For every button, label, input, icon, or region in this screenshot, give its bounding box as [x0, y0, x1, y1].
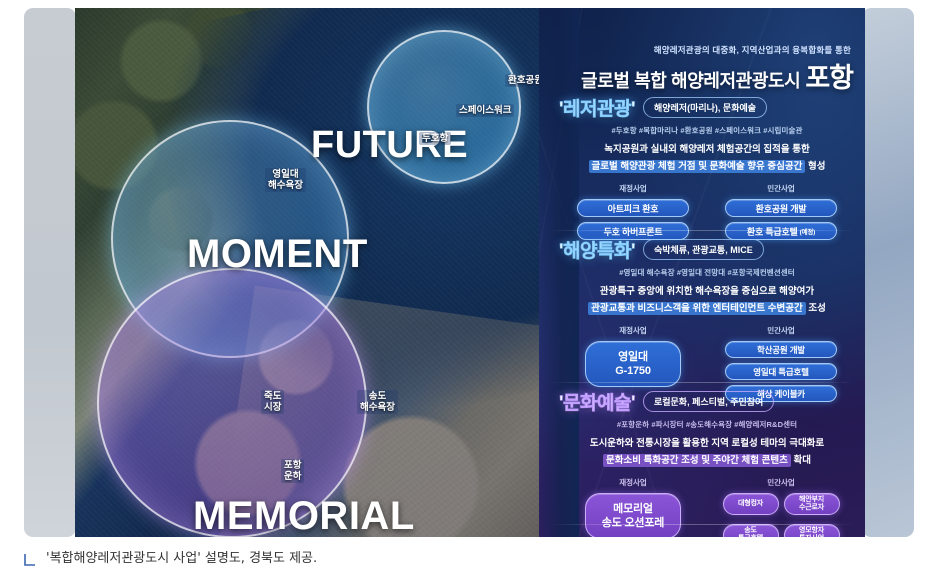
section-description: 녹지공원과 실내외 해양레저 체험공간의 집적을 통한 글로벌 해양관광 체험 … [559, 143, 855, 174]
headline-subtitle: 해양레저관광의 대중화, 지역산업과의 융복합화를 통한 [539, 44, 851, 56]
figure-caption-row: '복합해양레저관광도시 사업' 설명도, 경북도 제공. [24, 550, 317, 568]
project-columns: 재정사업 메모리얼 송도 오션포레 민간사업 대형컹자 해안부지 수근로자 송도… [559, 477, 855, 537]
project-column-public: 재정사업 메모리얼 송도 오션포레 [559, 477, 707, 537]
section-desc-highlight: 관광교통과 비즈니스객을 위한 엔터테인먼트 수변공간 [588, 302, 806, 315]
section-desc-line1: 도시운하와 전통시장을 활용한 지역 로컬성 테마의 극대화로 [559, 437, 855, 451]
project-button-label: 송도 특급호텔 [738, 527, 763, 538]
project-button[interactable]: 해안부지 수근로자 [784, 493, 840, 515]
info-panel: 해양레저관광의 대중화, 지역산업과의 융복합화를 통한 글로벌 복합 해양레저… [539, 8, 865, 537]
section-desc-line2: 글로벌 해양관광 체험 거점 및 문화예술 향유 중심공간 형성 [559, 159, 855, 174]
section-divider [549, 230, 855, 231]
section-desc-line2: 관광교통과 비즈니스객을 위한 엔터테인먼트 수변공간 조성 [559, 301, 855, 316]
section-desc-tail: 조성 [806, 303, 826, 314]
project-button[interactable]: 영모항자 투자사업 [784, 524, 840, 537]
project-button-line2: 송도 오션포레 [602, 516, 664, 530]
project-button-line1: 영일대 [618, 350, 648, 364]
project-button-label: 대형컹자 [738, 500, 763, 509]
section-title: '해양특화' [559, 236, 635, 263]
column-caption: 민간사업 [707, 477, 855, 488]
project-button-primary[interactable]: 영일대 G-1750 [585, 341, 681, 387]
project-button-line2: G-1750 [615, 364, 651, 378]
section-keyword-pill: 해양레저(마리나), 문화예술 [643, 97, 767, 118]
page-root: FUTURE MOMENT MEMORIAL 환호공원 스페이스워크 두호항 영… [0, 0, 938, 582]
project-button-label: 아트피크 환호 [608, 202, 659, 215]
right-gutter-panel [862, 8, 914, 537]
left-gutter-panel [24, 8, 76, 537]
section-divider [549, 382, 855, 383]
section-desc-highlight: 글로벌 해양관광 체험 거점 및 문화예술 향유 중심공간 [589, 160, 806, 173]
headline-city: 포항 [805, 63, 853, 93]
column-caption: 재정사업 [559, 477, 707, 488]
project-button[interactable]: 송도 특급호텔 [723, 524, 779, 537]
section-hashtags: #두호항 #복합마리나 #환호공원 #스페이스워크 #시립미술관 [559, 125, 855, 136]
caption-bracket-icon [24, 553, 36, 567]
project-button-label: 환호공원 개발 [756, 202, 807, 215]
section-title: '문화예술' [559, 388, 635, 415]
column-caption: 민간사업 [707, 183, 855, 194]
section-title: '레저관광' [559, 94, 635, 121]
section-keyword-pill: 로컬문화, 페스티벌, 주민참여 [643, 391, 774, 412]
map-label-jukdo-market: 죽도 시장 [261, 390, 284, 414]
zone-word-future: FUTURE [311, 124, 468, 167]
project-button-note: (예정) [800, 226, 816, 236]
section-desc-tail: 확대 [791, 455, 811, 466]
section-desc-line2: 문화소비 특화공간 조성 및 주야간 체험 콘텐츠 확대 [559, 453, 855, 468]
section-desc-tail: 형성 [805, 161, 825, 172]
column-caption: 민간사업 [707, 325, 855, 336]
section-desc-line1: 관광특구 중앙에 위치한 해수욕장을 중심으로 해양여가 [559, 285, 855, 299]
section-hashtags: #포항운하 #파시장터 #송도해수욕장 #해양레저R&D센터 [559, 419, 855, 430]
project-button[interactable]: 학산공원 개발 [725, 341, 837, 358]
headline-title-text: 글로벌 복합 해양레저관광도시 [581, 71, 800, 91]
column-caption: 재정사업 [559, 325, 707, 336]
map-label-space-walk: 스페이스워크 [456, 104, 514, 117]
project-button[interactable]: 아트피크 환호 [577, 199, 689, 217]
theme-section-culture-arts: '문화예술' 로컬문화, 페스티벌, 주민참여 #포항운하 #파시장터 #송도해… [559, 388, 855, 537]
zone-word-moment: MOMENT [187, 232, 368, 277]
section-keyword-pill: 숙박체류, 관광교통, MICE [643, 239, 764, 260]
figure-caption-text: '복합해양레저관광도시 사업' 설명도, 경북도 제공. [46, 550, 317, 568]
project-column-private: 민간사업 대형컹자 해안부지 수근로자 송도 특급호텔 영모항자 투자사업 [707, 477, 855, 537]
map-label-duho-port: 두호항 [419, 132, 451, 145]
map-label-songdo-beach: 송도 해수욕장 [357, 390, 398, 414]
section-description: 관광특구 중앙에 위치한 해수욕장을 중심으로 해양여가 관광교통과 비즈니스객… [559, 285, 855, 316]
project-button-primary[interactable]: 메모리얼 송도 오션포레 [585, 493, 681, 537]
map-label-yeongildae-beach: 영일대 해수욕장 [265, 168, 306, 192]
section-description: 도시운하와 전통시장을 활용한 지역 로컬성 테마의 극대화로 문화소비 특화공… [559, 437, 855, 468]
theme-section-leisure-tourism: '레저관광' 해양레저(마리나), 문화예술 #두호항 #복합마리나 #환호공원… [559, 94, 855, 245]
section-hashtags: #영일대 해수욕장 #영일대 전망대 #포항국제컨벤션센터 [559, 267, 855, 278]
zone-word-memorial: MEMORIAL [193, 494, 415, 537]
project-button-label: 학산공원 개발 [757, 344, 805, 356]
project-button-label: 해안부지 수근로자 [799, 496, 824, 513]
column-caption: 재정사업 [559, 183, 707, 194]
project-button[interactable]: 영일대 특급호텔 [725, 363, 837, 380]
section-desc-highlight: 문화소비 특화공간 조성 및 주야간 체험 콘텐츠 [603, 454, 791, 467]
project-button-label: 영일대 특급호텔 [753, 366, 809, 378]
section-header: '문화예술' 로컬문화, 페스티벌, 주민참여 [559, 388, 855, 415]
infographic-figure: FUTURE MOMENT MEMORIAL 환호공원 스페이스워크 두호항 영… [75, 8, 865, 537]
project-button[interactable]: 대형컹자 [723, 493, 779, 515]
project-button-label: 영모항자 투자사업 [799, 527, 824, 538]
section-header: '레저관광' 해양레저(마리나), 문화예술 [559, 94, 855, 121]
map-label-pohang-canal: 포항 운하 [281, 459, 304, 483]
project-button-line1: 메모리얼 [613, 502, 653, 516]
section-divider [549, 524, 855, 525]
project-button[interactable]: 환호공원 개발 [725, 199, 837, 217]
project-mini-grid: 대형컹자 해안부지 수근로자 송도 특급호텔 영모항자 투자사업 [722, 493, 840, 537]
section-header: '해양특화' 숙박체류, 관광교통, MICE [559, 236, 855, 263]
section-desc-line1: 녹지공원과 실내외 해양레저 체험공간의 집적을 통한 [559, 143, 855, 157]
headline-title: 글로벌 복합 해양레저관광도시포항 [539, 56, 853, 95]
